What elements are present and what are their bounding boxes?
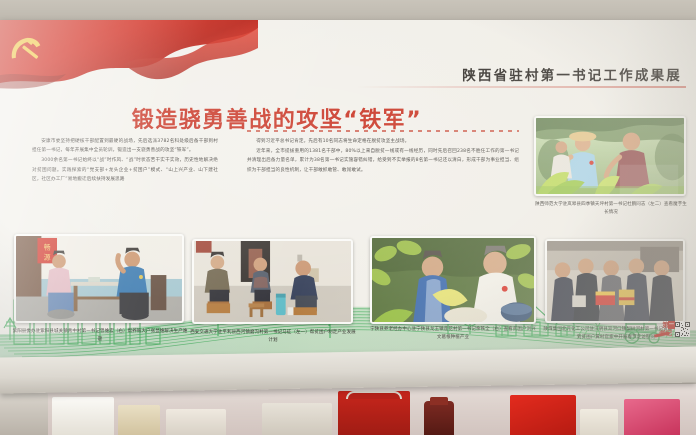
first-secretary-logo: 第 书记 一 (658, 321, 690, 338)
photo-new-year-visit (545, 239, 685, 323)
goods-item (0, 393, 48, 435)
body-text-left-column: 安康市委坚持把硬核干部配置到最硬的战场，先后选派3782名科处级后备干部到村担任… (32, 137, 218, 185)
main-headline: 锻造骁勇善战的攻坚“铁军” (112, 102, 442, 134)
photo-field-inspection (534, 116, 686, 196)
goods-item (346, 391, 402, 399)
photo-caption: 陕西师范大学驻岚皋县四季镇天坪村第一书记杜鹏同志（左二）查看魔芋生长情况 (534, 201, 688, 216)
photo-caption: 西安交通大学驻平利县西河镇磨沟村第一书记马征（左一）帮贫困户制定产业发展计划 (190, 329, 356, 344)
photo-caption: 宁陕县养老经办中心驻宁陕县龙王镇莲花村第一书记余铁全（右）查看贫困户刘兴文葛根种… (368, 326, 538, 341)
goods-item (166, 409, 226, 435)
goods-item (424, 401, 454, 435)
paragraph: 安康市委坚持把硬核干部配置到最硬的战场，先后选派3782名科处级后备干部到村担任… (32, 137, 218, 155)
flag-svg (0, 20, 258, 104)
photo-garden-inspection (370, 236, 536, 324)
logo-wordmark: 第 书记 一 (658, 321, 673, 338)
goods-item (262, 403, 332, 435)
qr-code-icon (675, 322, 690, 337)
logo-badge: 一 (668, 321, 675, 329)
photo-1-scene: 畅 源 (16, 236, 182, 323)
photo-caption: 紫阳县委办驻紫阳县城关镇青中村第一书记曾维宏（右）帮养殖大户张显维解决生产难题 (12, 328, 188, 343)
wall-top-strip (0, 0, 696, 22)
photo-3-scene (372, 238, 534, 324)
photo-top-scene (536, 118, 684, 196)
photo-2-scene (194, 241, 351, 324)
goods-item (52, 397, 114, 435)
body-text-right-column: 得到习近平总书记肯定。先后有10名同志将生命定格在脱贫攻坚主战场。 近年来，全市… (247, 137, 519, 176)
goods-item (580, 409, 618, 435)
paragraph: 3000余名第一书记始终以“战”时作风、“战”时状态苦干实干实效，历史性地解决绝… (32, 156, 218, 184)
goods-item (430, 397, 448, 405)
header-rule (356, 86, 686, 88)
page-title: 陕西省驻村第一书记工作成果展 (462, 64, 682, 84)
goods-item (624, 399, 680, 435)
paragraph: 近年来，全市提拔重用的1381名干部中，80%以上来自脱贫一线或有一线经历，同时… (247, 147, 519, 175)
photo-4-scene (547, 241, 683, 323)
goods-item (510, 395, 576, 435)
goods-item (118, 405, 160, 435)
photo-courtyard-meeting (192, 239, 353, 324)
exhibition-board: 陕西省驻村第一书记工作成果展 锻造骁勇善战的攻坚“铁军” 安康市委坚持把硬核干部… (0, 20, 696, 360)
party-flag-graphic (0, 20, 258, 104)
paragraph: 得到习近平总书记肯定。先后有10名同志将生命定格在脱贫攻坚主战场。 (247, 137, 519, 146)
photo-farmer-interview: 畅 源 (14, 234, 184, 323)
